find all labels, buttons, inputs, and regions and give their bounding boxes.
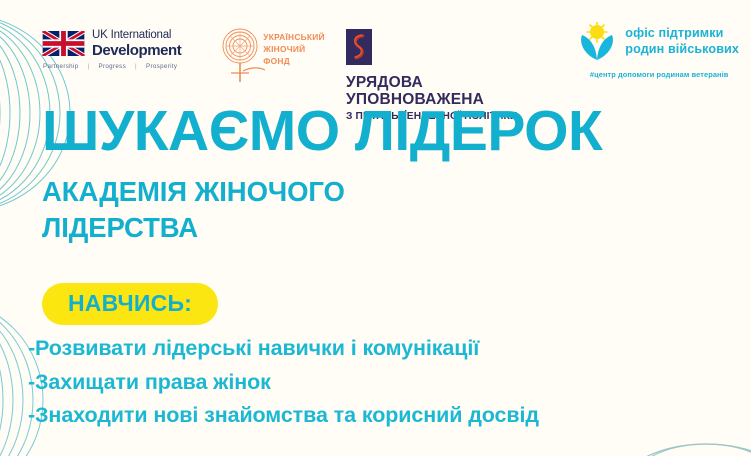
union-jack-flag-icon: [42, 31, 85, 56]
flower-icon: [219, 26, 265, 82]
logo-office-support-military-families: офіс підтримки родин військових #центр д…: [577, 22, 741, 79]
subheadline-line2: ЛІДЕРСТВА: [42, 210, 345, 246]
uk-tagline-sep-2: |: [135, 63, 137, 70]
uk-logo-tagline: Partnership | Progress | Prosperity: [42, 63, 181, 70]
uk-tagline-prosperity: Prosperity: [146, 63, 177, 70]
learn-badge: НАВЧИСЬ:: [42, 283, 218, 325]
uwf-logo-line3: ФОНД: [263, 55, 325, 67]
poster-canvas: UK International Development Partnership…: [0, 0, 751, 456]
uk-logo-line1: UK International: [92, 30, 181, 42]
ofis-logo-line2: родин військових: [625, 42, 739, 58]
list-item: -Захищати права жінок: [28, 372, 728, 394]
uk-tagline-sep-1: |: [88, 63, 90, 70]
s-curve-mark-icon: [346, 29, 372, 65]
uk-tagline-progress: Progress: [98, 63, 126, 70]
poster-subheadline: АКАДЕМІЯ ЖІНОЧОГО ЛІДЕРСТВА: [42, 174, 345, 247]
uwf-logo-line1: УКРАЇНСЬКИЙ: [263, 31, 325, 43]
learn-badge-label: НАВЧИСЬ:: [68, 290, 192, 316]
logo-ukrainian-womens-fund: УКРАЇНСЬКИЙ ЖІНОЧИЙ ФОНД: [219, 22, 324, 84]
list-item: -Розвивати лідерські навички і комунікац…: [28, 338, 728, 360]
subheadline-line1: АКАДЕМІЯ ЖІНОЧОГО: [42, 174, 345, 210]
poster-headline: ШУКАЄМО ЛІДЕРОК: [42, 103, 602, 160]
uwf-logo-line2: ЖІНОЧИЙ: [263, 43, 325, 55]
ofis-logo-hashtag: #центр допомоги родинам ветеранів: [577, 70, 741, 79]
list-item: -Знаходити нові знайомства та корисний д…: [28, 405, 728, 427]
uwf-logo-text: УКРАЇНСЬКИЙ ЖІНОЧИЙ ФОНД: [263, 31, 325, 68]
uk-tagline-partnership: Partnership: [43, 63, 79, 70]
ofis-logo-line1: офіс підтримки: [625, 26, 739, 42]
partner-logo-strip: UK International Development Partnership…: [42, 22, 741, 94]
uk-logo-line2: Development: [92, 43, 181, 58]
benefits-list: -Розвивати лідерські навички і комунікац…: [28, 338, 728, 439]
sunflower-sprout-icon: [577, 22, 617, 62]
logo-uk-international-development: UK International Development Partnership…: [42, 22, 181, 70]
